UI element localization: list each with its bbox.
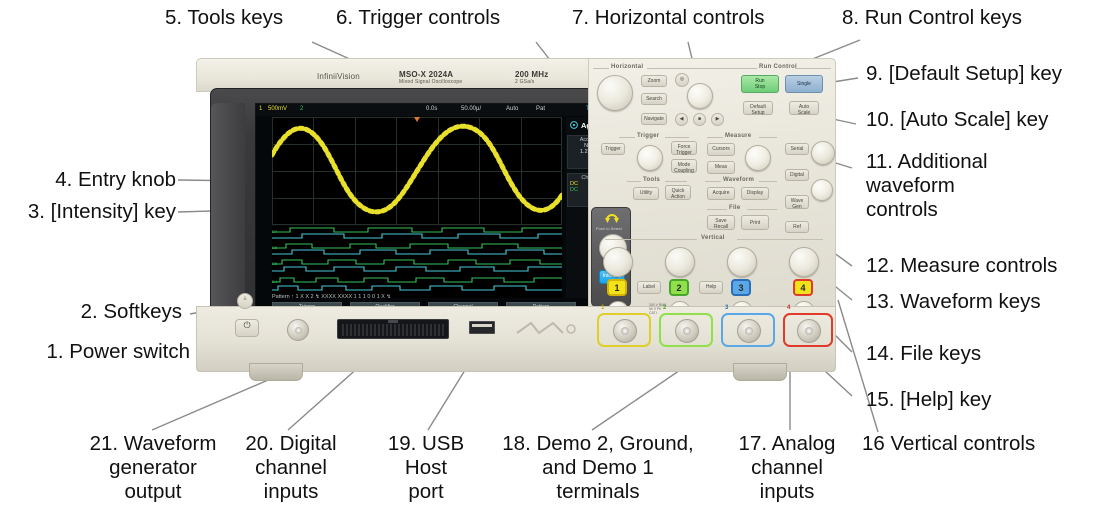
channel-1-key[interactable]: 1 (607, 279, 627, 296)
serial-key[interactable]: Serial (785, 143, 809, 155)
callout-2: 2. Softkeys (0, 300, 182, 324)
screen-status-bar: 1 500mV 2 0.0s 50.00µ/ Auto Pat TTL (256, 104, 619, 116)
status-ch1-scale: 500mV (268, 106, 287, 112)
callout-20: 20. Digital channel inputs (232, 432, 350, 504)
section-run-control-label: Run Control (759, 64, 797, 70)
callout-14: 14. File keys (866, 342, 981, 366)
quick-action-line2: Action (666, 194, 690, 200)
default-setup-line2: Setup (744, 110, 772, 116)
control-panel: Horizontal Zoom Search ◎ Navigate ◀ ■ ▶ … (588, 58, 836, 310)
callout-11: 11. Additional waveform controls (866, 150, 988, 222)
connector-chassis: ⏚ ⏻ 1 2 (196, 306, 836, 372)
callout-12: 12. Measure controls (866, 254, 1057, 278)
svg-text:D4: D4 (272, 279, 278, 284)
callout-3: 3. [Intensity] key (0, 200, 176, 224)
bnc-voltage-warning: 300 V RMS 50 V PK CAT I (649, 303, 666, 315)
power-icon: ⏻ (243, 320, 250, 330)
entry-knob-caption: Push to Select (596, 226, 622, 231)
ch3-bnc-number: 3 (725, 305, 728, 311)
bandwidth-label: 200 MHz (515, 70, 548, 79)
probe-comp-icon: ⏚ (237, 293, 253, 309)
digital-key[interactable]: Digital (785, 169, 809, 181)
svg-text:D7: D7 (272, 229, 278, 234)
channel-4-key[interactable]: 4 (793, 279, 813, 296)
section-trigger-label: Trigger (637, 133, 659, 139)
model-name: MSO-X 2024A (399, 70, 453, 79)
nav-back-key[interactable]: ◀ (675, 113, 688, 126)
oscilloscope-front-panel: InfiniiVision MSO-X 2024A Mixed Signal O… (196, 58, 836, 388)
status-timebase: 0.0s (426, 106, 437, 112)
single-label: Single (786, 81, 822, 87)
section-waveform-label: Waveform (723, 177, 754, 183)
help-key[interactable]: Help (699, 281, 723, 294)
brand-infiniivision: InfiniiVision (317, 72, 360, 81)
auto-scale-line2: Scale (790, 110, 818, 116)
ch1-bnc-connector[interactable] (613, 319, 637, 343)
run-stop-line2: Stop (742, 84, 778, 90)
trigger-pattern-line: Pattern ↑ 1 X X 2 ↯ XXXX XXXX 1 1 1 0 0 … (272, 294, 602, 302)
zoom-window-key[interactable]: ◎ (675, 73, 689, 87)
navigate-key[interactable]: Navigate (641, 113, 667, 125)
default-setup-key[interactable]: Default Setup (743, 101, 773, 115)
callout-6: 6. Trigger controls (336, 6, 500, 30)
callout-1: 1. Power switch (0, 340, 190, 364)
analog-waveform-ch1 (272, 117, 562, 225)
digital-channel-inputs[interactable] (337, 319, 449, 339)
left-bezel (211, 103, 245, 317)
delay-position-knob[interactable] (687, 83, 713, 109)
callout-9: 9. [Default Setup] key (866, 62, 1062, 86)
section-measure-label: Measure (725, 133, 751, 139)
ch1-scale-knob[interactable] (603, 247, 633, 277)
power-switch[interactable]: ⏻ (235, 319, 259, 337)
callout-21: 21. Waveform generator output (68, 432, 238, 504)
search-key[interactable]: Search (641, 93, 667, 105)
ch1-bnc-number: 1 (601, 305, 604, 311)
cursors-knob[interactable] (745, 145, 771, 171)
callout-18: 18. Demo 2, Ground, and Demo 1 terminals (488, 432, 708, 504)
quick-action-key[interactable]: Quick Action (665, 185, 691, 200)
wave-gen-key[interactable]: Wave Gen (785, 195, 809, 209)
callout-13: 13. Waveform keys (866, 290, 1041, 314)
oscilloscope-screen: 1 500mV 2 0.0s 50.00µ/ Auto Pat TTL (255, 103, 619, 315)
status-mode: Auto (506, 106, 518, 112)
usb-host-port[interactable] (469, 321, 495, 334)
section-horizontal-label: Horizontal (611, 64, 643, 70)
trigger-level-knob[interactable] (637, 145, 663, 171)
ch3-scale-knob[interactable] (727, 247, 757, 277)
ch2-scale-knob[interactable] (665, 247, 695, 277)
save-recall-key[interactable]: Save Recall (707, 215, 735, 230)
display-key[interactable]: Display (741, 187, 769, 200)
chassis-foot-right (733, 363, 787, 381)
label-key[interactable]: Label (637, 281, 661, 294)
callout-19: 19. USB Host port (374, 432, 478, 504)
digital-waveforms: D7D6 D5D4 (272, 226, 562, 298)
mode-coupling-line2: Coupling (672, 168, 696, 174)
status-trigger-source: Pat (536, 106, 545, 112)
nav-stop-key[interactable]: ■ (693, 113, 706, 126)
save-recall-line2: Recall (708, 224, 734, 230)
nav-forward-key[interactable]: ▶ (711, 113, 724, 126)
status-ch1: 1 (259, 106, 262, 112)
channel-3-key[interactable]: 3 (731, 279, 751, 296)
callout-7: 7. Horizontal controls (572, 6, 765, 30)
auto-scale-key[interactable]: Auto Scale (789, 101, 819, 115)
demo-terminals[interactable] (513, 317, 583, 341)
waveform-generator-output[interactable] (287, 319, 309, 341)
aux-scale-knob[interactable] (811, 141, 835, 165)
svg-text:D5: D5 (272, 261, 278, 266)
aux-position-knob[interactable] (811, 179, 833, 201)
force-trigger-line2: Trigger (672, 150, 696, 156)
ch4-bnc-connector[interactable] (797, 319, 821, 343)
acquire-key[interactable]: Acquire (707, 187, 735, 200)
callout-4: 4. Entry knob (0, 168, 176, 192)
callout-5: 5. Tools keys (165, 6, 283, 30)
callout-8: 8. Run Control keys (842, 6, 1022, 30)
callout-10: 10. [Auto Scale] key (866, 108, 1048, 132)
meas-key[interactable]: Meas (707, 161, 735, 174)
ch2-bnc-connector[interactable] (675, 319, 699, 343)
channel-2-key[interactable]: 2 (669, 279, 689, 296)
samplerate-label: 2 GSa/s (515, 79, 534, 85)
single-key[interactable]: Single (785, 75, 823, 93)
ch2-coupling: DC (570, 187, 578, 193)
zoom-key[interactable]: Zoom (641, 75, 667, 87)
mode-coupling-key[interactable]: Mode Coupling (671, 159, 697, 173)
ch3-bnc-connector[interactable] (737, 319, 761, 343)
callout-15: 15. [Help] key (866, 388, 991, 412)
force-trigger-key[interactable]: Force Trigger (671, 141, 697, 155)
callout-16: 16 Vertical controls (862, 432, 1035, 456)
ch4-bnc-number: 4 (787, 305, 790, 311)
ch4-scale-knob[interactable] (789, 247, 819, 277)
ref-key[interactable]: Ref (785, 221, 809, 233)
status-sweep: 50.00µ/ (461, 106, 481, 112)
print-key[interactable]: Print (741, 215, 769, 230)
chassis-foot-left (249, 363, 303, 381)
section-file-label: File (729, 205, 741, 211)
section-vertical-label: Vertical (701, 235, 725, 241)
section-tools-label: Tools (643, 177, 660, 183)
utility-key[interactable]: Utility (633, 187, 659, 200)
status-ch2: 2 (300, 106, 303, 112)
run-stop-key[interactable]: Run Stop (741, 75, 779, 93)
wave-gen-line2: Gen (786, 204, 808, 210)
svg-text:D6: D6 (272, 245, 278, 250)
trigger-key[interactable]: Trigger (601, 143, 625, 155)
callout-17: 17. Analog channel inputs (722, 432, 852, 504)
model-subtitle: Mixed Signal Oscilloscope (399, 79, 462, 85)
cursors-key[interactable]: Cursors (707, 143, 735, 156)
time-scale-knob[interactable] (597, 75, 633, 111)
